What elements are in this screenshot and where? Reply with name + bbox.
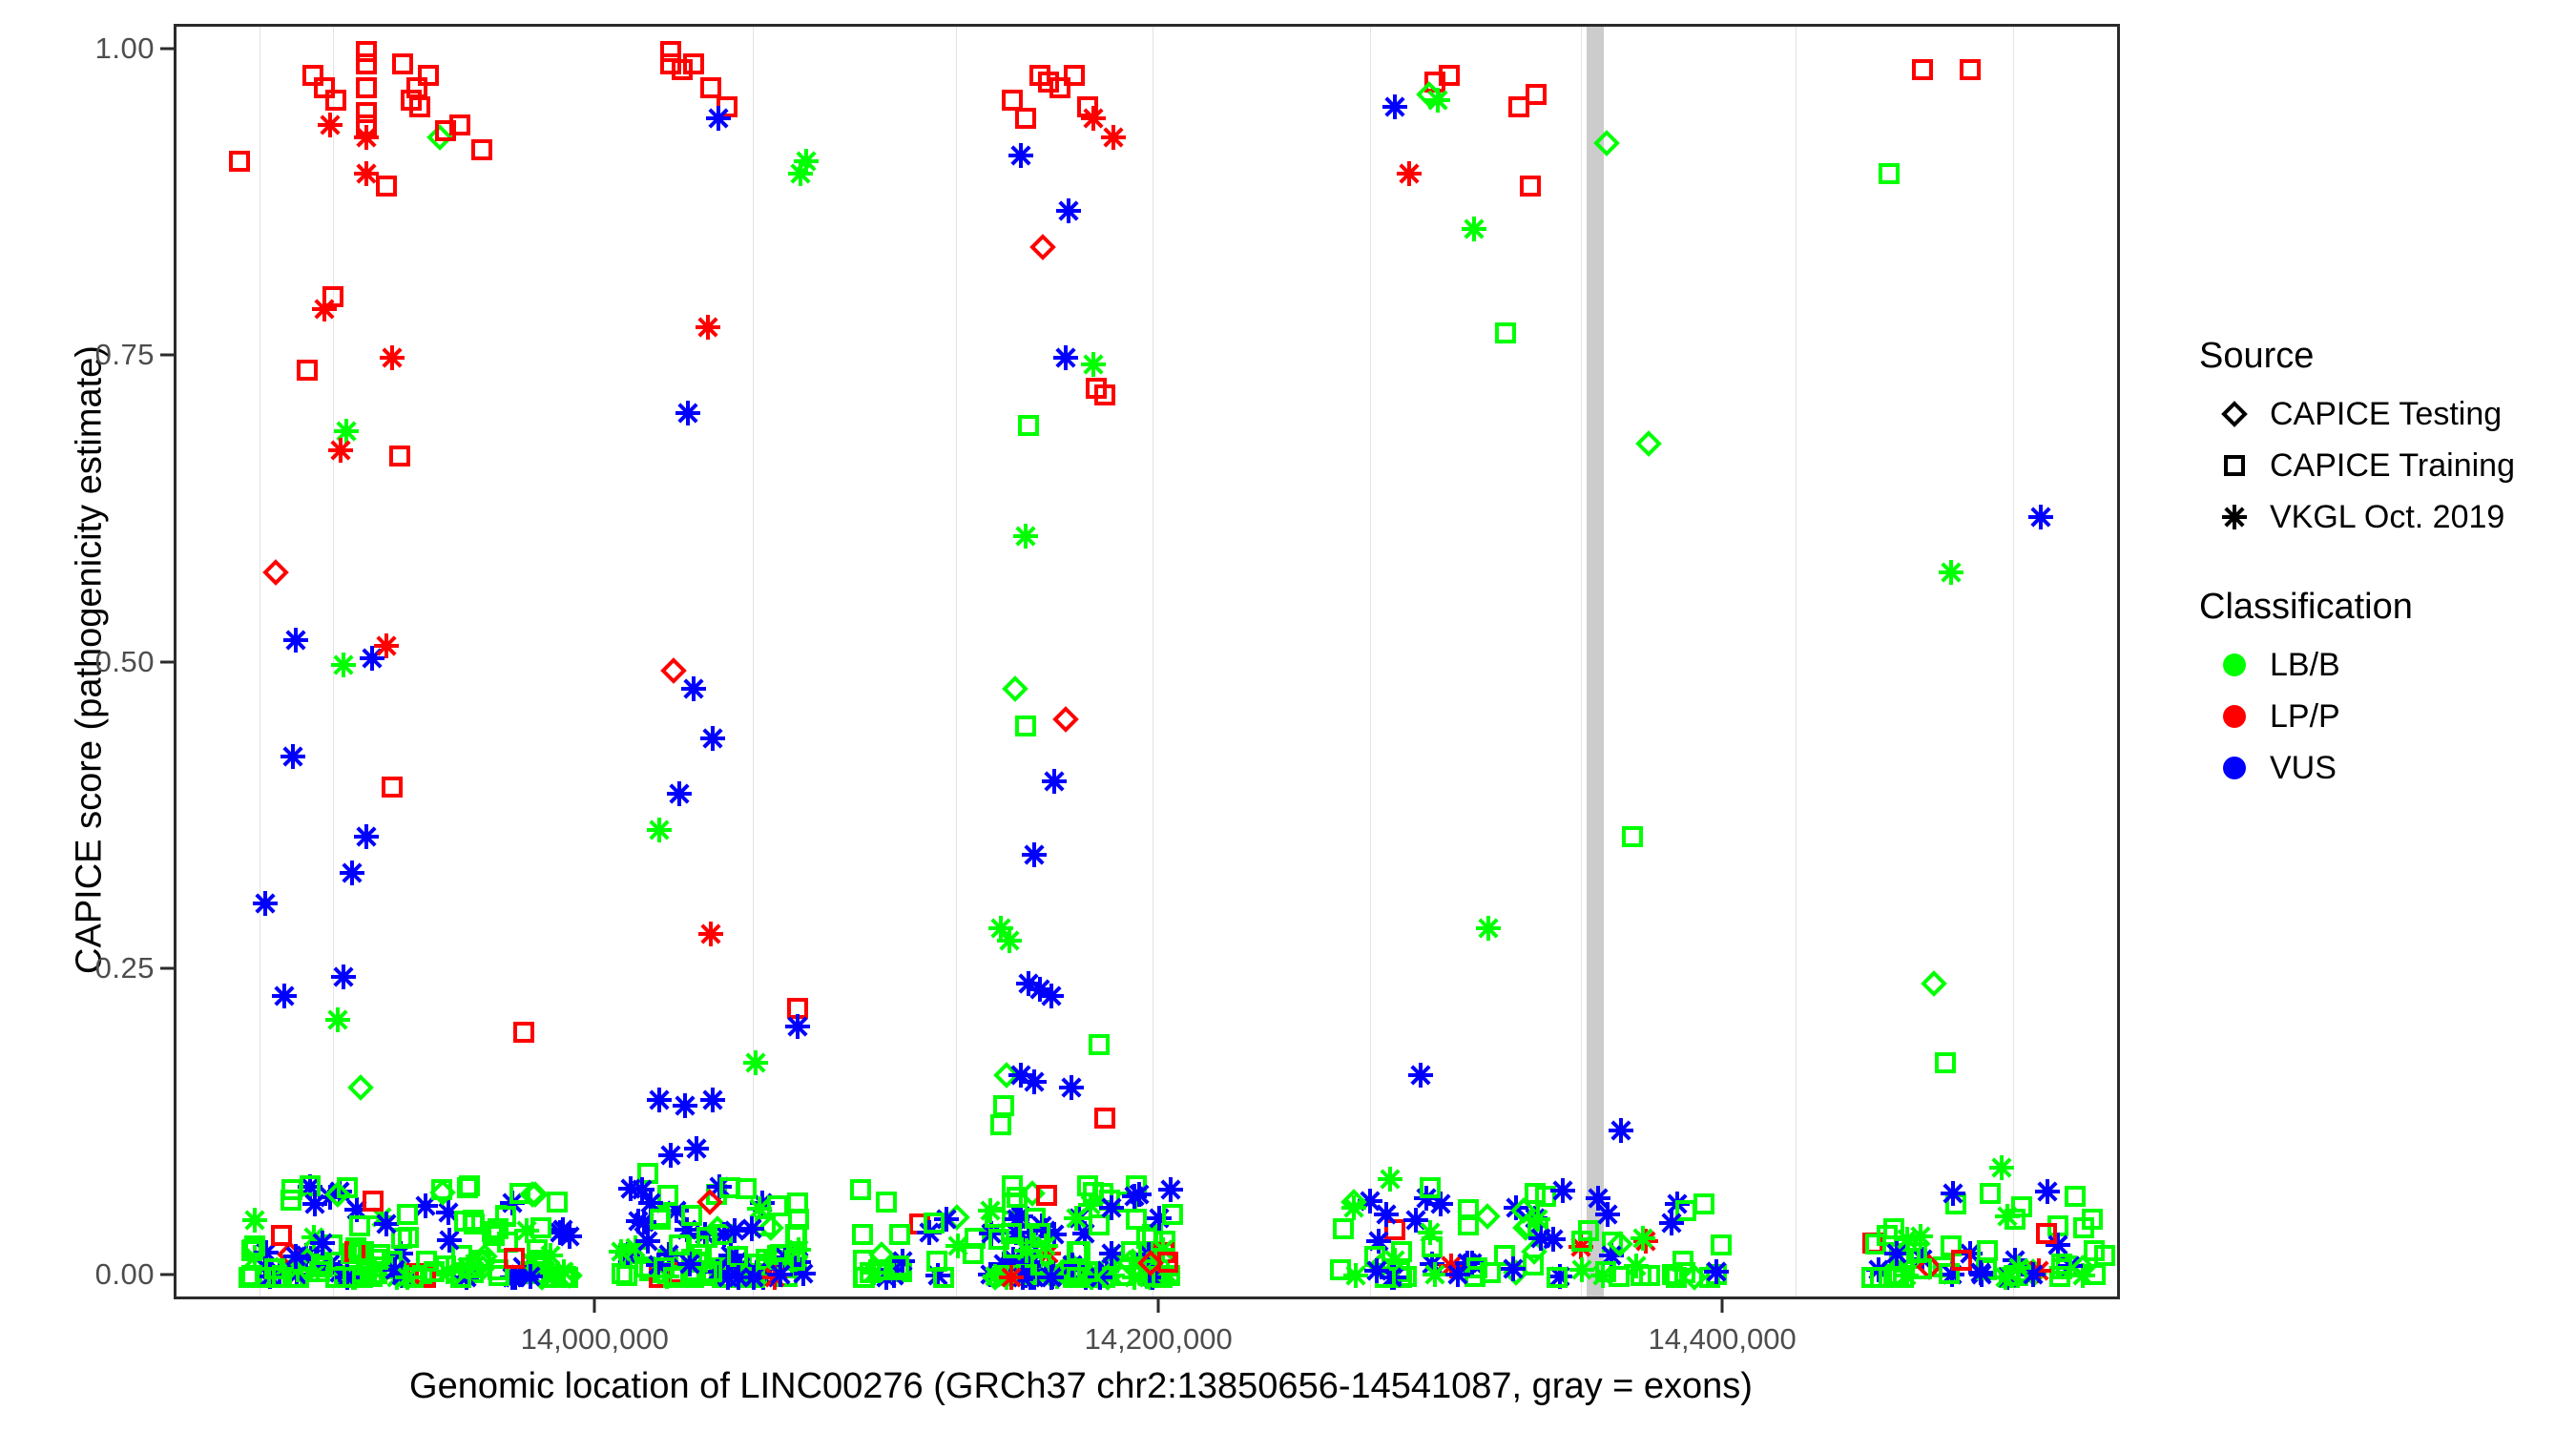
data-point [299,1246,323,1271]
data-point [323,1265,348,1290]
data-point [874,1265,899,1290]
data-point [389,1263,414,1288]
data-point [1403,1208,1428,1233]
legend-classification-items: LB/BLP/PVUS [2199,639,2571,794]
data-point [734,1176,758,1201]
data-point [413,1265,438,1290]
data-point [698,922,723,946]
data-point [1117,1251,1142,1275]
data-point [1394,1264,1419,1289]
plot-area [177,27,2117,1296]
data-point [743,1050,768,1075]
x-axis-title: Genomic location of LINC00276 (GRCh37 ch… [0,1366,2162,1407]
data-point [540,1261,565,1286]
data-point [500,1265,525,1290]
data-point [272,984,297,1008]
data-point [1065,1239,1090,1264]
data-point [1075,1173,1100,1198]
data-point [744,1263,769,1288]
data-point [1629,1263,1653,1288]
data-point [354,824,379,849]
data-point [1058,1258,1083,1283]
data-point [991,1252,1016,1276]
data-point [239,1263,264,1288]
legend-item-lp-p[interactable]: LP/P [2199,691,2571,742]
data-point [753,1213,778,1238]
data-point [374,1212,399,1236]
data-point [999,1221,1024,1246]
data-point [1374,1202,1399,1227]
data-point [1062,63,1087,88]
data-point [1397,161,1422,186]
data-point [1672,1260,1697,1285]
y-axis-tick-labels: 0.000.250.500.751.00 [0,0,155,1431]
data-point [994,1265,1019,1290]
grid-line [1153,27,1153,1296]
data-point [1382,94,1407,119]
data-point [1993,1265,2018,1290]
data-point [1428,1192,1453,1216]
legend-item-diamond[interactable]: CAPICE Testing [2199,388,2571,440]
data-point [647,1204,672,1229]
data-point [987,1227,1011,1252]
data-point [1001,1235,1026,1260]
data-point [1511,1198,1536,1223]
data-point [1526,1215,1550,1240]
data-point [626,1209,651,1234]
data-point [327,1260,352,1285]
data-point [890,1249,915,1274]
data-point [1136,1242,1161,1267]
data-point [354,161,379,186]
data-point [670,57,695,82]
data-point [705,1259,730,1284]
data-point [739,1216,764,1241]
data-point [1673,1198,1698,1223]
data-point [1064,1206,1089,1231]
asterisk-icon [2199,505,2270,529]
data-point [1160,1202,1185,1227]
data-point [388,1241,413,1266]
data-point [681,676,706,701]
data-point [449,1243,474,1268]
y-axis-tick-label: 0.00 [95,1257,155,1292]
data-point [334,419,359,444]
data-point [343,1265,367,1290]
data-point [1099,1195,1124,1220]
data-point [667,781,692,806]
data-point [1891,1265,1916,1290]
data-point [983,1205,1008,1230]
data-point [1100,1263,1125,1288]
data-point [663,1260,688,1285]
data-point [1091,1181,1115,1206]
data-point [2082,1238,2107,1263]
data-point [1922,971,1946,996]
data-point [931,1265,956,1290]
data-point [344,1197,369,1222]
data-point [348,1075,373,1100]
x-axis-tick-label: 14,200,000 [1085,1322,1233,1357]
data-point [1155,1262,1180,1287]
data-point [525,1237,550,1262]
data-point [1058,1252,1083,1276]
data-point [1958,57,1983,82]
data-point [699,1259,724,1284]
data-point [1420,1234,1444,1259]
data-point [744,1261,769,1286]
data-point [2026,1258,2051,1283]
data-point [1077,1262,1102,1287]
data-point [530,1265,554,1290]
data-point [978,1262,1003,1287]
color-dot-icon [2199,653,2270,676]
data-point [1704,1262,1729,1287]
data-point [1478,1260,1503,1285]
data-point [679,1247,704,1272]
data-point [695,1225,719,1250]
data-point [667,1233,692,1257]
data-point [1949,1248,1974,1273]
data-point [272,1255,297,1279]
data-point [1513,1215,1538,1240]
data-point [384,1265,409,1290]
data-point [1092,1106,1117,1130]
data-point [520,1182,545,1207]
data-point [1341,1190,1366,1214]
data-point [339,1241,364,1266]
data-point [461,1208,486,1233]
data-point [2080,1207,2105,1232]
data-point [945,1205,969,1230]
y-axis-tick-label: 1.00 [95,31,155,66]
data-point [468,1248,493,1273]
data-point [874,1190,899,1214]
data-point [1975,1238,2000,1263]
data-point [707,1174,732,1199]
data-point [1008,1204,1033,1229]
data-point [1028,977,1052,1002]
data-point [681,52,706,76]
data-point [1382,1217,1407,1242]
data-point [1013,1263,1038,1288]
data-point [2035,1179,2060,1204]
data-point [350,1265,375,1290]
legend-item-lb-b[interactable]: LB/B [2199,639,2571,691]
data-point [741,1265,766,1290]
data-point [383,1257,407,1282]
data-point [495,1230,520,1255]
data-point [454,1265,479,1290]
data-point [239,1238,264,1263]
data-point [1081,352,1106,377]
data-point [1633,1229,1658,1254]
legend-item-asterisk[interactable]: VKGL Oct. 2019 [2199,491,2571,543]
data-point [2049,1256,2074,1281]
data-point [882,1263,906,1288]
data-point [705,1216,730,1241]
data-point [267,1259,292,1284]
data-point [1065,1265,1090,1290]
data-point [648,1207,673,1232]
data-point [295,358,320,383]
legend-item-label: LP/P [2270,698,2340,736]
data-point [240,1237,265,1262]
data-point [1091,1265,1115,1290]
data-point [380,1249,405,1274]
data-point [1418,1175,1443,1200]
data-point [765,1243,790,1268]
data-point [2070,1263,2095,1288]
data-point [405,75,429,100]
data-point [635,1229,660,1254]
data-point [1018,1265,1043,1290]
data-point [367,1242,392,1267]
data-point [1958,1241,1983,1266]
data-point [751,1265,776,1290]
data-point [481,1223,506,1248]
data-point [1420,1252,1444,1276]
data-point [2063,1184,2088,1209]
data-point [1059,1075,1084,1100]
data-point [784,1224,809,1249]
data-point [1709,1233,1734,1257]
data-point [557,1263,582,1288]
data-point [503,1265,528,1290]
legend-item-square[interactable]: CAPICE Training [2199,440,2571,491]
data-point [656,1242,681,1267]
data-point [693,1222,717,1247]
data-point [1016,971,1041,996]
data-point [1028,63,1052,88]
exon-band [1587,27,1604,1296]
data-point [1523,1181,1548,1206]
data-point [1493,321,1518,345]
data-point [1940,1262,1964,1287]
data-point [1620,824,1645,849]
data-point [539,1265,564,1290]
data-point [514,1218,539,1243]
data-point [889,1259,914,1284]
data-point [1875,1223,1900,1248]
data-point [700,726,725,751]
data-point [869,1242,894,1267]
data-point [253,891,278,916]
data-point [1637,1263,1662,1288]
color-dot-icon [2199,705,2270,728]
data-point [472,1244,497,1269]
data-point [442,1262,467,1287]
data-point [227,149,252,174]
data-point [1917,1255,1942,1279]
data-point [1028,1221,1052,1246]
data-point [518,1264,543,1289]
data-point [1155,1250,1180,1275]
data-point [786,1237,811,1262]
data-point [686,1234,711,1258]
data-point [1894,1263,1919,1288]
data-point [658,39,683,64]
data-point [389,1226,414,1251]
data-point [1079,1265,1104,1290]
data-point [1515,1213,1540,1238]
data-point [2028,505,2053,529]
plot-panel [174,24,2120,1299]
grid-line [956,27,957,1296]
data-point [1087,1213,1111,1237]
data-point [851,1265,876,1290]
data-point [1087,1032,1111,1057]
data-point [422,1259,447,1284]
data-point [1029,1213,1054,1238]
data-point [430,1180,455,1205]
legend-item-vus[interactable]: VUS [2199,742,2571,794]
data-point [1910,57,1935,82]
data-point [457,1255,482,1280]
data-point [1995,1204,2020,1229]
y-axis-tick-label: 0.25 [95,951,155,985]
data-point [1142,1264,1167,1289]
data-point [1030,235,1055,259]
data-point [493,1204,518,1229]
data-point [1040,1260,1065,1285]
data-point [447,113,472,137]
data-point [862,1260,886,1285]
data-point [685,1250,710,1275]
y-axis-tick-mark [160,354,174,357]
data-point [1381,1265,1406,1290]
legend-source-items: CAPICE TestingCAPICE TrainingVKGL Oct. 2… [2199,388,2571,543]
data-point [414,1249,439,1274]
data-point [341,1265,365,1290]
data-point [1341,1195,1366,1220]
data-point [652,1255,676,1280]
data-point [1119,1239,1144,1264]
data-point [1122,1265,1147,1290]
data-point [2092,1243,2117,1268]
data-point [2058,1254,2083,1278]
data-point [1070,1264,1095,1289]
data-point [1624,1254,1649,1278]
grid-line [1796,27,1797,1296]
data-point [1094,1258,1119,1283]
data-point [1455,1251,1480,1275]
data-point [879,1257,904,1282]
data-point [615,1242,640,1267]
data-point [1548,1264,1572,1289]
data-point [1068,1239,1092,1264]
data-point [346,1264,371,1289]
data-point [354,39,379,64]
y-axis-tick-mark [160,1274,174,1276]
data-point [1364,1258,1389,1283]
data-point [1092,383,1117,407]
data-point [470,1250,495,1275]
data-point [616,1241,641,1266]
data-point [1524,82,1548,107]
data-point [343,1239,367,1264]
data-point [664,1198,689,1223]
data-point [997,928,1022,953]
x-axis-tick-label: 14,400,000 [1649,1322,1797,1357]
data-point [2021,1259,2046,1284]
data-point [707,1255,732,1280]
data-point [395,1202,420,1227]
data-point [527,1251,551,1275]
data-point [1013,1221,1038,1246]
data-point [1014,1238,1039,1263]
data-point [1533,1184,1558,1209]
data-point [1423,70,1447,94]
data-point [1463,1264,1487,1289]
data-point [649,1260,674,1285]
data-point [1974,1257,1999,1282]
data-point [1042,1222,1067,1247]
data-point [380,775,405,799]
data-point [1028,1253,1053,1277]
data-point [340,861,364,885]
data-point [1078,1192,1103,1217]
data-point [242,1208,267,1233]
data-point [1868,1265,1893,1290]
data-point [1939,1234,1963,1258]
data-point [307,1259,332,1284]
data-point [1000,1173,1025,1198]
data-point [1860,1231,1885,1255]
data-point [1943,1192,1968,1216]
data-point [520,1251,545,1275]
data-point [380,345,405,370]
data-point [917,1220,942,1245]
data-point [1414,1186,1439,1211]
data-point [1523,1206,1548,1231]
data-point [1124,1207,1149,1232]
data-point [1859,1265,1884,1290]
data-point [1015,1250,1040,1275]
data-point [318,1185,343,1210]
data-point [1067,1265,1091,1290]
data-point [924,1249,949,1274]
data-point [978,1198,1003,1223]
data-point [728,1255,753,1279]
data-point [689,1242,714,1267]
data-point [527,1248,551,1273]
data-point [2003,1207,2027,1232]
data-point [310,1231,335,1255]
data-point [347,1239,372,1264]
data-point [1004,1220,1028,1245]
data-point [994,1063,1019,1088]
data-point [1023,1206,1048,1231]
data-point [351,1239,376,1264]
data-point [1541,1227,1566,1252]
data-point [1061,1265,1086,1290]
data-point [1008,143,1033,168]
data-point [2083,1262,2108,1287]
data-point [786,1250,811,1275]
data-point [369,1205,394,1230]
data-point [258,1264,282,1289]
data-point [1504,1260,1528,1285]
data-point [253,1255,278,1279]
data-point [983,1264,1008,1289]
x-axis-tick-mark [1721,1299,1724,1313]
data-point [704,1182,729,1207]
data-point [508,1181,532,1206]
data-point [761,1248,786,1273]
data-point [775,1264,800,1289]
data-point [482,1223,507,1248]
